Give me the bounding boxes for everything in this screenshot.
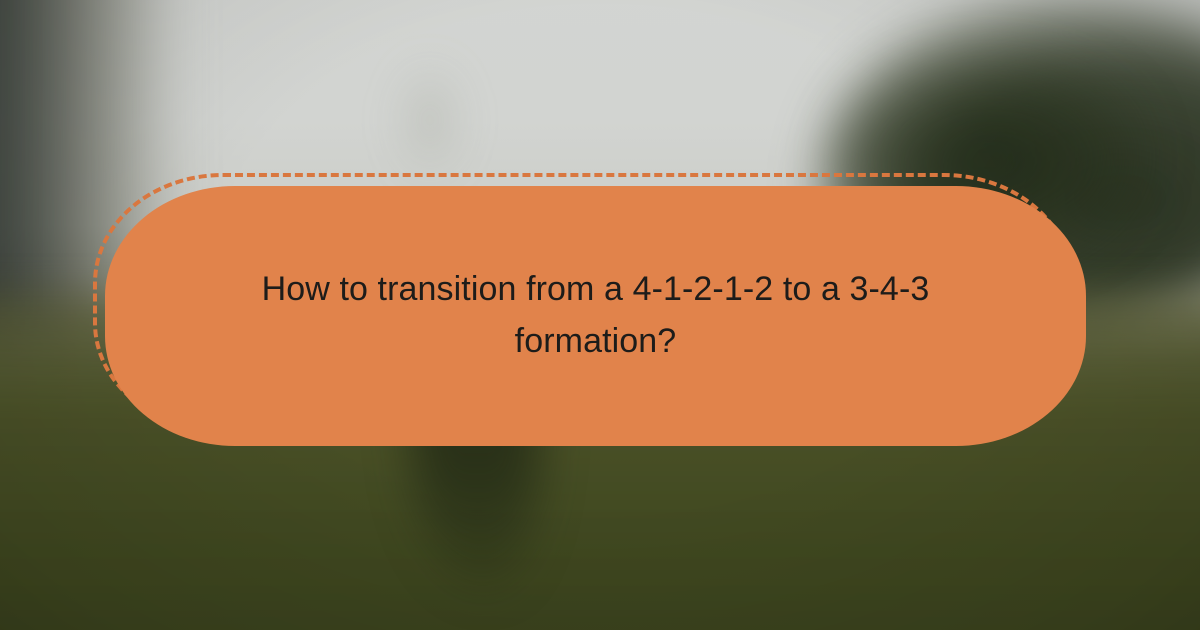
question-card: How to transition from a 4-1-2-1-2 to a … [105, 186, 1086, 446]
question-title: How to transition from a 4-1-2-1-2 to a … [211, 264, 981, 367]
card-body: How to transition from a 4-1-2-1-2 to a … [105, 186, 1086, 446]
poster-canvas: How to transition from a 4-1-2-1-2 to a … [0, 0, 1200, 630]
